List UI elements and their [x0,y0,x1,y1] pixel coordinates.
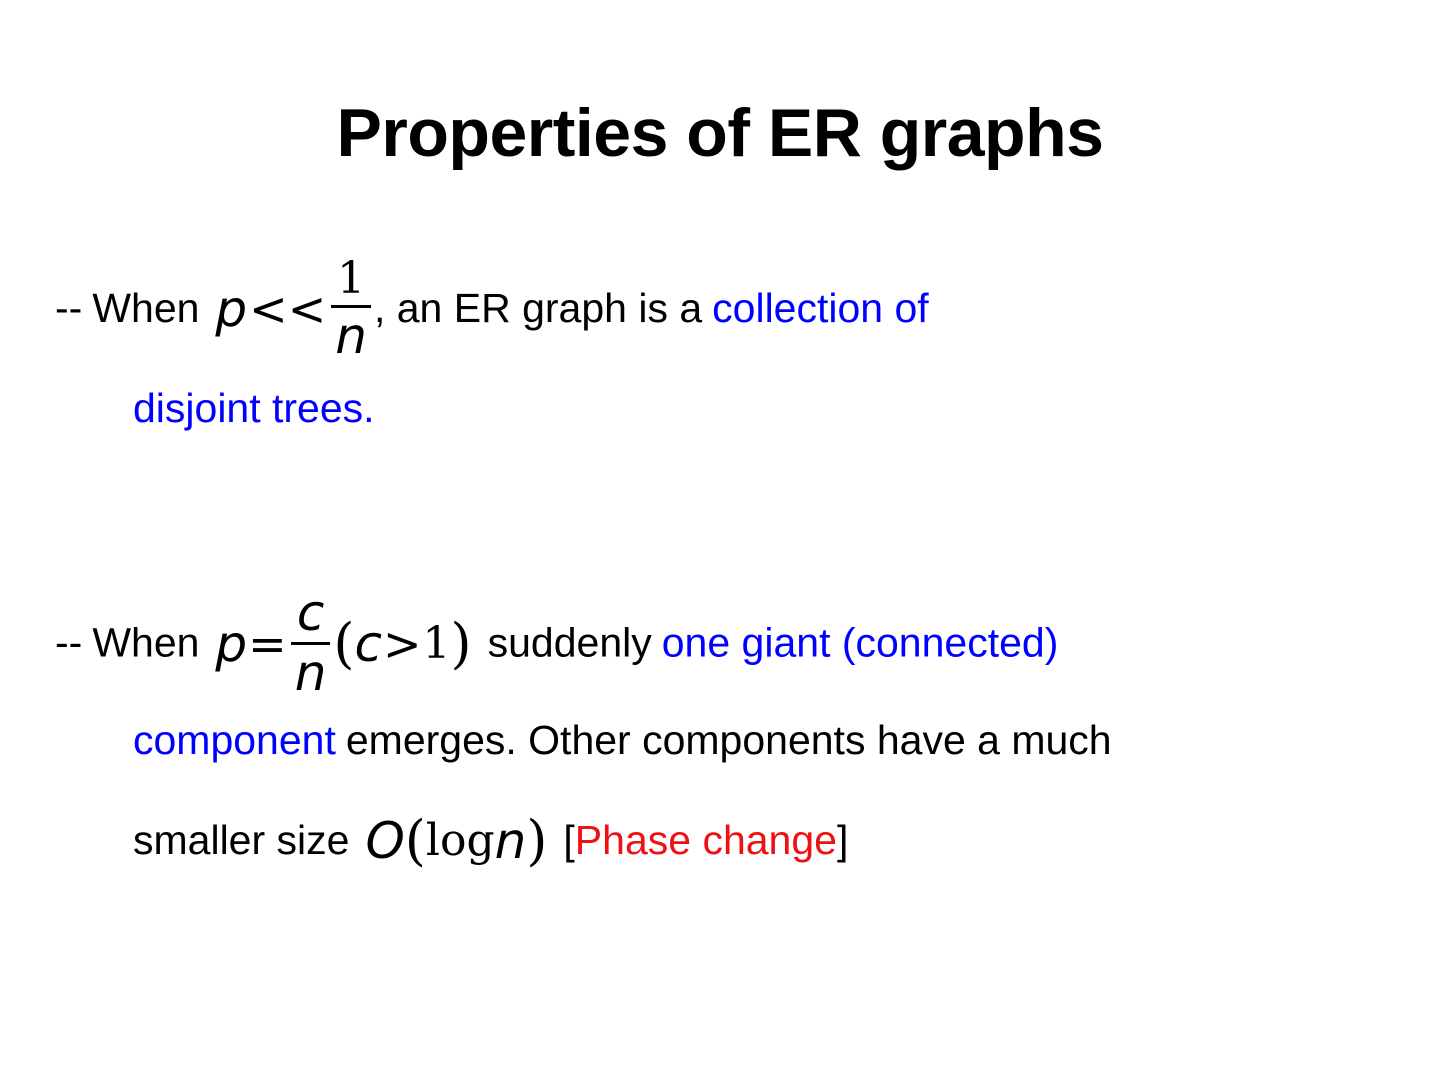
paragraph-gap [55,458,1415,590]
bullet-1-after-math-text: , an ER graph is a [374,285,702,331]
bullet-2-highlight-component: component [133,717,336,763]
math-operator-equals: = [247,621,288,667]
math-variable-c: c [355,619,383,669]
page-title: Properties of ER graphs [0,92,1440,174]
math-expression-p-ll-1-over-n: p<<1n [215,257,374,362]
math-close-paren: ) [526,814,547,868]
bullet-2-after-math-text: suddenly [488,619,652,665]
bullet-1-line-1: --Whenp<<1n, an ER graph is acollection … [55,258,1415,358]
math-variable-n: n [495,816,527,866]
bullet-1-marker: -- [55,285,82,331]
bullet-2-lead-text: When [92,619,199,665]
bullet-1-highlight-disjoint-trees: disjoint trees. [133,385,375,431]
math-denominator: n [291,648,331,699]
math-operator-greater-than: > [382,621,423,667]
bullet-2-line-3: smaller sizeO(logn)[Phase change] [55,790,1415,890]
math-expression-p-equals-c-over-n: p=cn(c>1) [215,588,471,699]
bullet-2-emphasis-phase-change: Phase change [575,817,837,863]
math-function-log: log [426,819,495,863]
math-fraction-c-over-n: cn [291,588,331,699]
math-variable-p: p [215,284,247,334]
slide-body: --Whenp<<1n, an ER graph is acollection … [55,258,1415,890]
bullet-2-line-3-lead: smaller size [133,817,349,863]
math-fraction-1-over-n: 1n [331,257,371,362]
math-close-paren: ) [451,617,472,671]
bullet-paragraph-1: --Whenp<<1n, an ER graph is acollection … [55,258,1415,458]
math-numerator: c [293,588,329,639]
math-variable-p: p [215,619,247,669]
bullet-2-line-1: --Whenp=cn(c>1)suddenlyone giant (connec… [55,590,1415,690]
bullet-1-highlight-collection-of: collection of [712,285,929,331]
bullet-1-line-2: disjoint trees. [55,358,1415,458]
math-expression-big-o-log-n: O(logn) [365,814,547,868]
bullet-2-line-2: componentemerges. Other components have … [55,690,1415,790]
bullet-paragraph-2: --Whenp=cn(c>1)suddenlyone giant (connec… [55,590,1415,890]
math-denominator: n [331,311,371,362]
bracket-open: [ [563,817,574,863]
bullet-2-marker: -- [55,619,82,665]
math-number-one: 1 [423,622,451,666]
math-open-paren: ( [333,617,354,671]
bullet-1-lead-text: When [92,285,199,331]
bullet-2-highlight-one-giant-connected: one giant (connected) [662,619,1059,665]
math-numerator: 1 [333,257,369,302]
math-open-paren: ( [405,814,426,868]
slide-canvas: Properties of ER graphs --Whenp<<1n, an … [0,0,1440,1080]
bullet-2-line-2-rest: emerges. Other components have a much [346,717,1112,763]
bracket-close: ] [837,817,848,863]
math-variable-big-o: O [365,816,404,866]
math-operator-much-less-than: << [247,286,328,332]
